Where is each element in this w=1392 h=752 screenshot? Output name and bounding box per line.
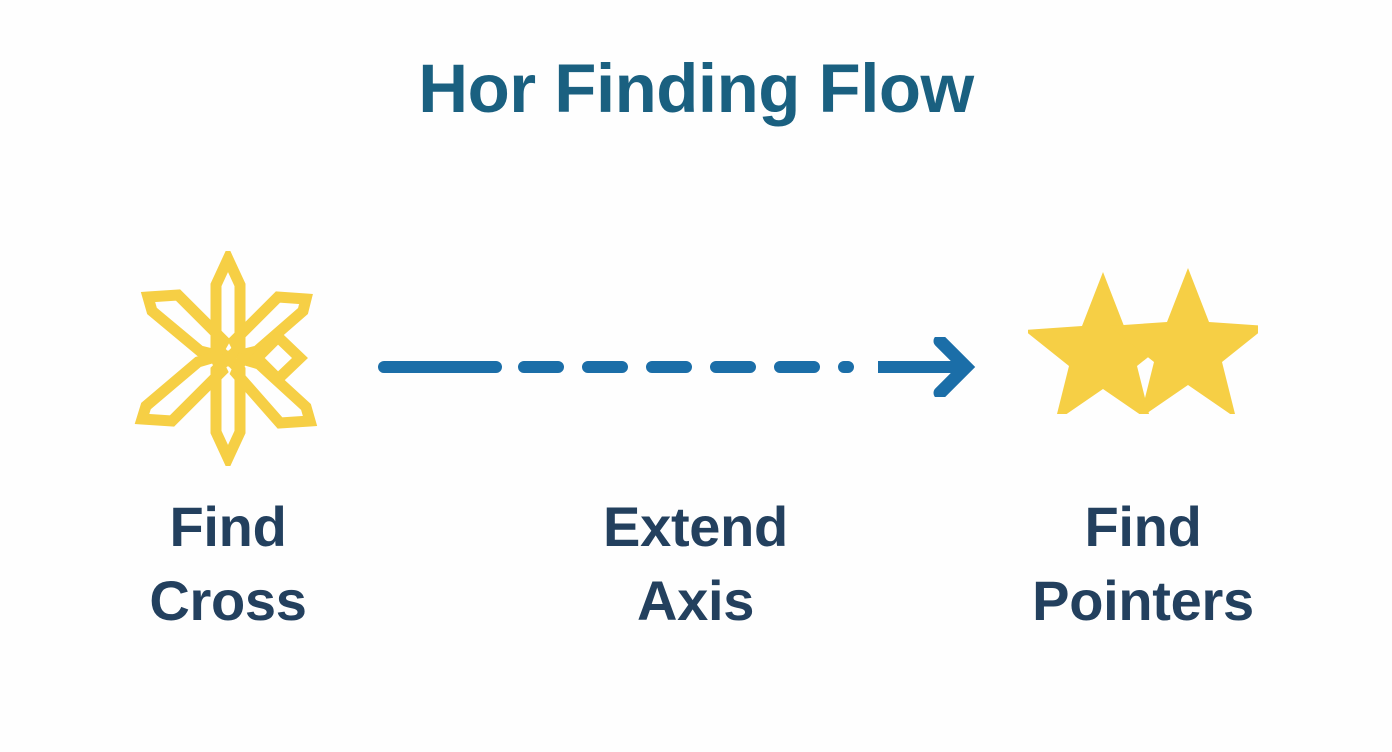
find-cross-label: Find Cross (68, 490, 388, 638)
page-title: Hor Finding Flow (0, 54, 1392, 123)
arrow-wrapper (378, 337, 978, 397)
flow-diagram: Hor Finding Flow (0, 0, 1392, 752)
two-stars-icon (1028, 264, 1258, 414)
find-pointers-label-line1: Find (983, 490, 1303, 564)
flow-step-extend-axis[interactable]: Extend Axis (468, 232, 923, 692)
flow-step-find-pointers[interactable]: Find Pointers (983, 232, 1303, 692)
find-pointers-icon-area (983, 232, 1303, 484)
find-cross-icon-area (68, 232, 388, 484)
extend-axis-label-line2: Axis (468, 564, 923, 638)
dashed-arrow-right-icon (378, 337, 978, 397)
extend-axis-icon-area (468, 232, 923, 484)
flow-step-find-cross[interactable]: Find Cross (68, 232, 388, 692)
extend-axis-label: Extend Axis (468, 490, 923, 638)
find-pointers-label-line2: Pointers (983, 564, 1303, 638)
find-cross-label-line2: Cross (68, 564, 388, 638)
flow-steps-row: Find Cross (0, 232, 1392, 692)
extend-axis-label-line1: Extend (468, 490, 923, 564)
find-pointers-label: Find Pointers (983, 490, 1303, 638)
find-cross-label-line1: Find (68, 490, 388, 564)
cross-star-outline-icon (128, 251, 328, 466)
